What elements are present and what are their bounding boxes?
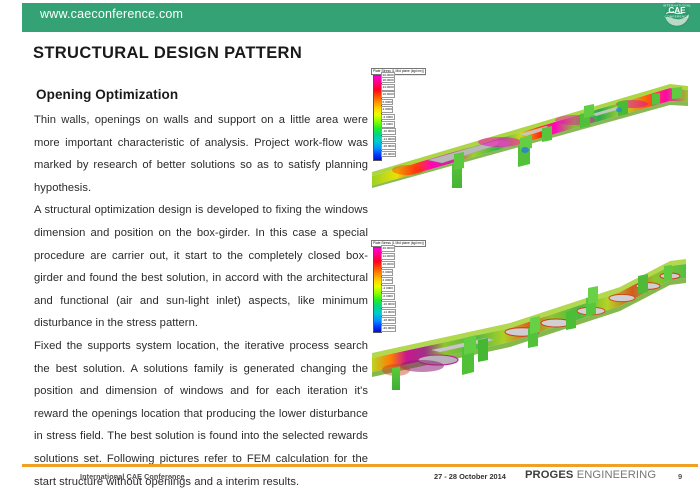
paragraph-3: Fixed the supports system location, the …	[34, 335, 368, 493]
svg-text:INTERNATIONAL: INTERNATIONAL	[663, 4, 691, 8]
legend-tick: -20.0000	[381, 325, 396, 332]
footer-page-number: 9	[678, 472, 682, 481]
legend-tick: 18.0000	[381, 77, 395, 84]
legend-ticks-figure-1: 20.0000 18.0000 14.0000 10.0000 6.0000 2…	[381, 72, 415, 164]
legend-tick: 6.0000	[381, 269, 393, 276]
legend-tick: 20.0000	[381, 245, 395, 252]
footer-brand-light: ENGINEERING	[573, 469, 656, 481]
legend-tick: 10.0000	[381, 91, 395, 98]
legend-tick: -18.0000	[381, 143, 396, 150]
svg-text:CONFERENCE: CONFERENCE	[665, 14, 690, 18]
legend-tick: -10.0000	[381, 128, 396, 135]
cae-conference-logo-icon: CAE INTERNATIONAL CONFERENCE	[662, 1, 692, 29]
legend-tick: 10.0000	[381, 261, 395, 268]
fem-plot-box-girder-with-openings: Plate Stress (1 Mid plane (kg/cm²)) 20.0…	[370, 240, 692, 390]
paragraph-1: Thin walls, openings on walls and suppor…	[34, 109, 368, 199]
legend-tick: 6.0000	[381, 99, 393, 106]
footer-brand: PROGES ENGINEERING	[525, 469, 656, 481]
body-text-column: Thin walls, openings on walls and suppor…	[34, 109, 368, 493]
legend-tick: -10.0000	[381, 301, 396, 308]
footer-divider	[22, 464, 698, 467]
footer-conference-name: International CAE Conference	[80, 472, 185, 481]
legend-tick: -6.0000	[381, 293, 395, 300]
legend-ticks-figure-2: 20.0000 14.0000 10.0000 6.0000 2.0000 -2…	[381, 244, 415, 336]
footer-brand-bold: PROGES	[525, 469, 573, 481]
slide-canvas: www.caeconference.com CAE INTERNATIONAL …	[0, 0, 700, 494]
legend-tick: -2.0000	[381, 114, 395, 121]
legend-tick: -18.0000	[381, 317, 396, 324]
page-title: STRUCTURAL DESIGN PATTERN	[33, 44, 302, 63]
legend-tick: -14.0000	[381, 136, 396, 143]
legend-tick: -14.0000	[381, 309, 396, 316]
section-title: Opening Optimization	[36, 87, 178, 102]
header-website-url[interactable]: www.caeconference.com	[40, 7, 183, 21]
legend-tick: 2.0000	[381, 106, 393, 113]
legend-tick: 14.0000	[381, 253, 395, 260]
legend-tick: 14.0000	[381, 84, 395, 91]
legend-tick: -6.0000	[381, 121, 395, 128]
legend-tick: 2.0000	[381, 277, 393, 284]
paragraph-2: A structural optimization design is deve…	[34, 199, 368, 335]
fem-plot-closed-box-girder: Plate Stress (1 Mid plane (kg/cm²)) 20.0…	[370, 68, 692, 188]
legend-tick: -20.0000	[381, 151, 396, 158]
footer-date: 27 - 28 October 2014	[434, 472, 506, 481]
legend-tick: -2.0000	[381, 285, 395, 292]
